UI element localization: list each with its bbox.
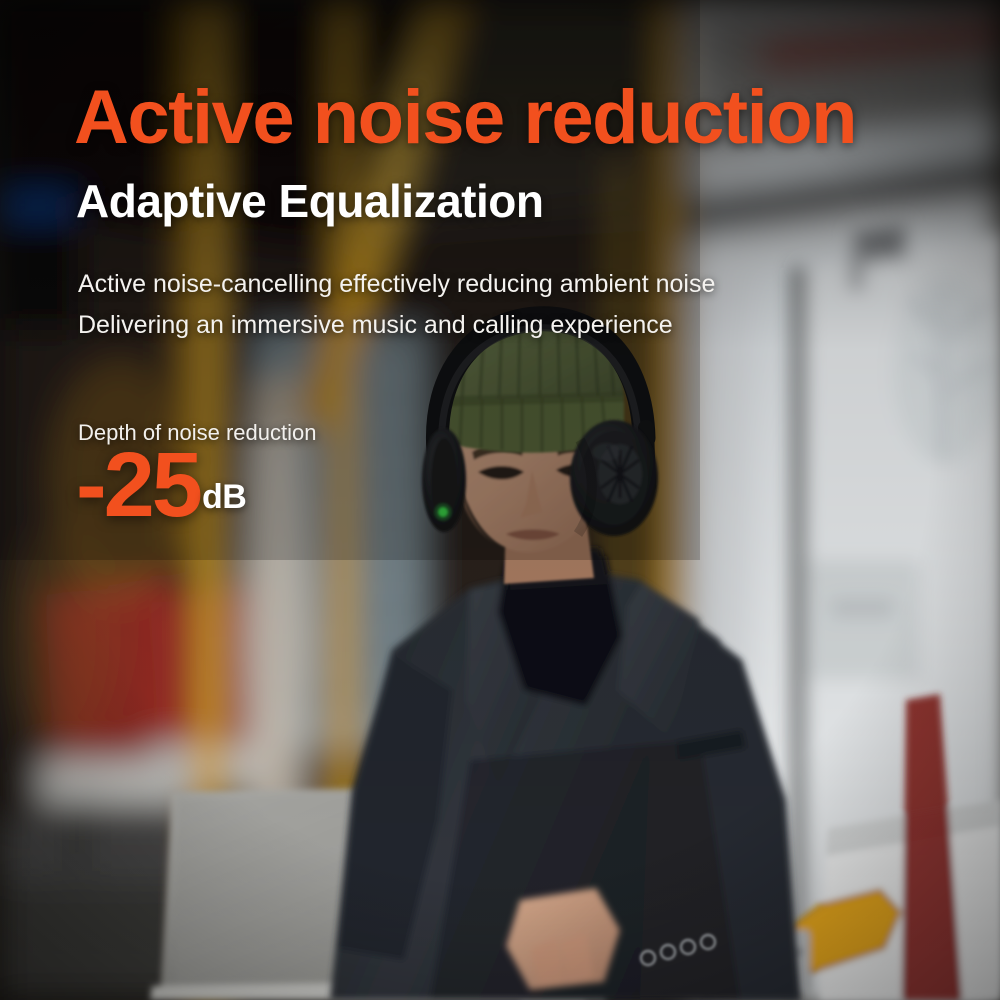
- stat-block: -25 dB: [76, 446, 246, 525]
- page-title: Active noise reduction: [74, 80, 994, 156]
- stat-unit: dB: [202, 478, 246, 525]
- subtitle: Adaptive Equalization: [76, 178, 996, 224]
- description-line-1: Active noise-cancelling effectively redu…: [78, 272, 978, 297]
- description-line-2: Delivering an immersive music and callin…: [78, 313, 978, 338]
- product-feature-poster: Active noise reduction Adaptive Equaliza…: [0, 0, 1000, 1000]
- stat-value: -25: [76, 446, 200, 525]
